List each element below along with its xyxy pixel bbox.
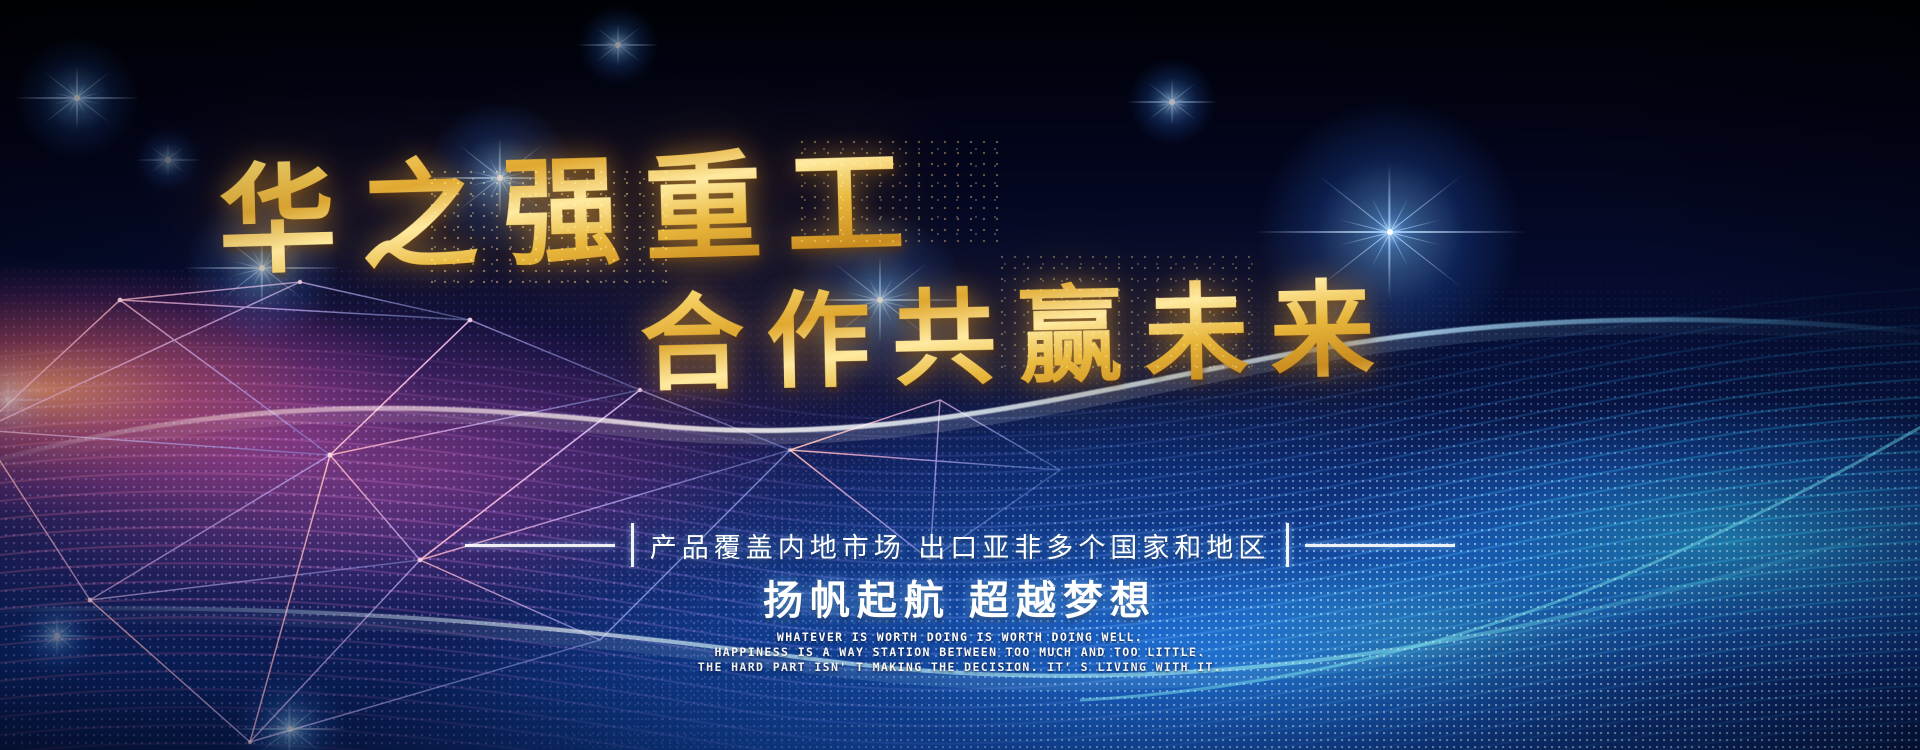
- divider-rule-right: [1305, 544, 1455, 547]
- english-line-3: THE HARD PART ISN' T MAKING THE DECISION…: [0, 660, 1920, 675]
- promo-banner: 华之强重工 合作共赢未来 产品覆盖内地市场 出口亚非多个国家和地区 扬帆起航 超…: [0, 0, 1920, 750]
- english-quote-block: WHATEVER IS WORTH DOING IS WORTH DOING W…: [0, 630, 1920, 675]
- tagline-text: 扬帆起航 超越梦想: [0, 568, 1920, 626]
- subtitle-row: 产品覆盖内地市场 出口亚非多个国家和地区: [0, 522, 1920, 568]
- subtitle-text: 产品覆盖内地市场 出口亚非多个国家和地区: [650, 526, 1271, 565]
- english-line-2: HAPPINESS IS A WAY STATION BETWEEN TOO M…: [0, 645, 1920, 660]
- title-line-secondary: 合作共赢未来: [639, 244, 1398, 411]
- divider-rule-left: [465, 544, 615, 547]
- divider-bar-left: [631, 523, 634, 567]
- english-line-1: WHATEVER IS WORTH DOING IS WORTH DOING W…: [0, 630, 1920, 645]
- divider-bar-right: [1286, 523, 1289, 567]
